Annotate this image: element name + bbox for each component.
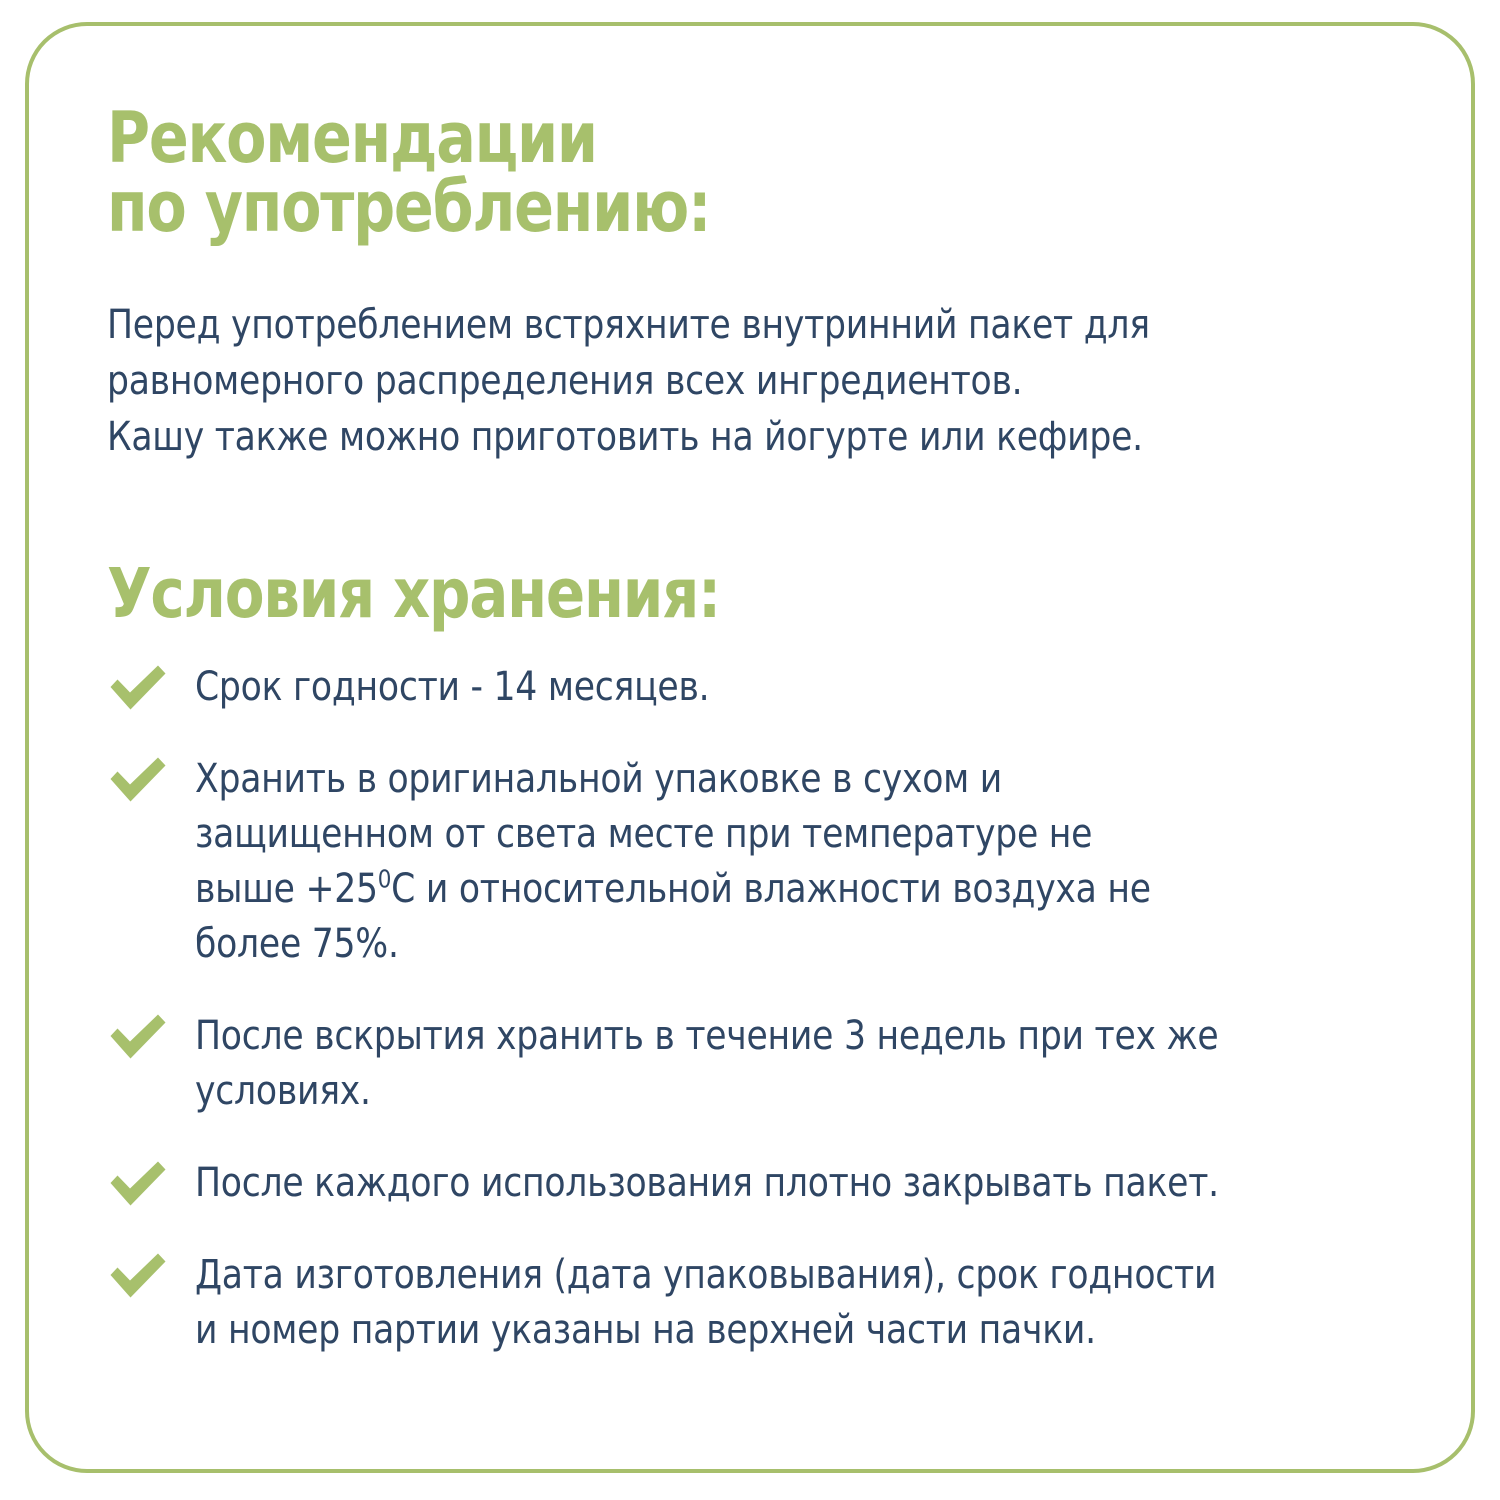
list-item-label: После каждого использования плотно закры… — [195, 1155, 1486, 1210]
check-mark-icon — [107, 1013, 169, 1061]
check-mark-icon — [107, 756, 169, 804]
list-item: После вскрытия хранить в течение 3 недел… — [107, 1008, 1487, 1118]
list-item-label: Дата изготовления (дата упаковывания), с… — [195, 1247, 1486, 1357]
usage-recommendations-text: Перед употреблением встряхните внутринни… — [107, 296, 1441, 464]
degree-superscript: 0 — [378, 865, 391, 894]
list-item-label: Срок годности - 14 месяцев. — [195, 659, 1486, 714]
list-item: Срок годности - 14 месяцев. — [107, 659, 1487, 714]
list-item: Дата изготовления (дата упаковывания), с… — [107, 1247, 1487, 1357]
storage-conditions-heading: Условия хранения: — [107, 561, 720, 629]
check-mark-icon — [107, 1252, 169, 1300]
list-item: После каждого использования плотно закры… — [107, 1155, 1487, 1210]
list-item: Хранить в оригинальной упаковке в сухом … — [107, 751, 1487, 971]
check-mark-icon — [107, 1160, 169, 1208]
storage-conditions-list: Срок годности - 14 месяцев. Хранить в ор… — [107, 659, 1487, 1357]
list-item-label: После вскрытия хранить в течение 3 недел… — [195, 1008, 1486, 1118]
check-mark-icon — [107, 664, 169, 712]
usage-recommendations-heading: Рекомендации по употреблению: — [107, 104, 710, 241]
list-item-label: Хранить в оригинальной упаковке в сухом … — [195, 751, 1486, 971]
info-panel: Рекомендации по употреблению: Перед упот… — [25, 22, 1475, 1473]
